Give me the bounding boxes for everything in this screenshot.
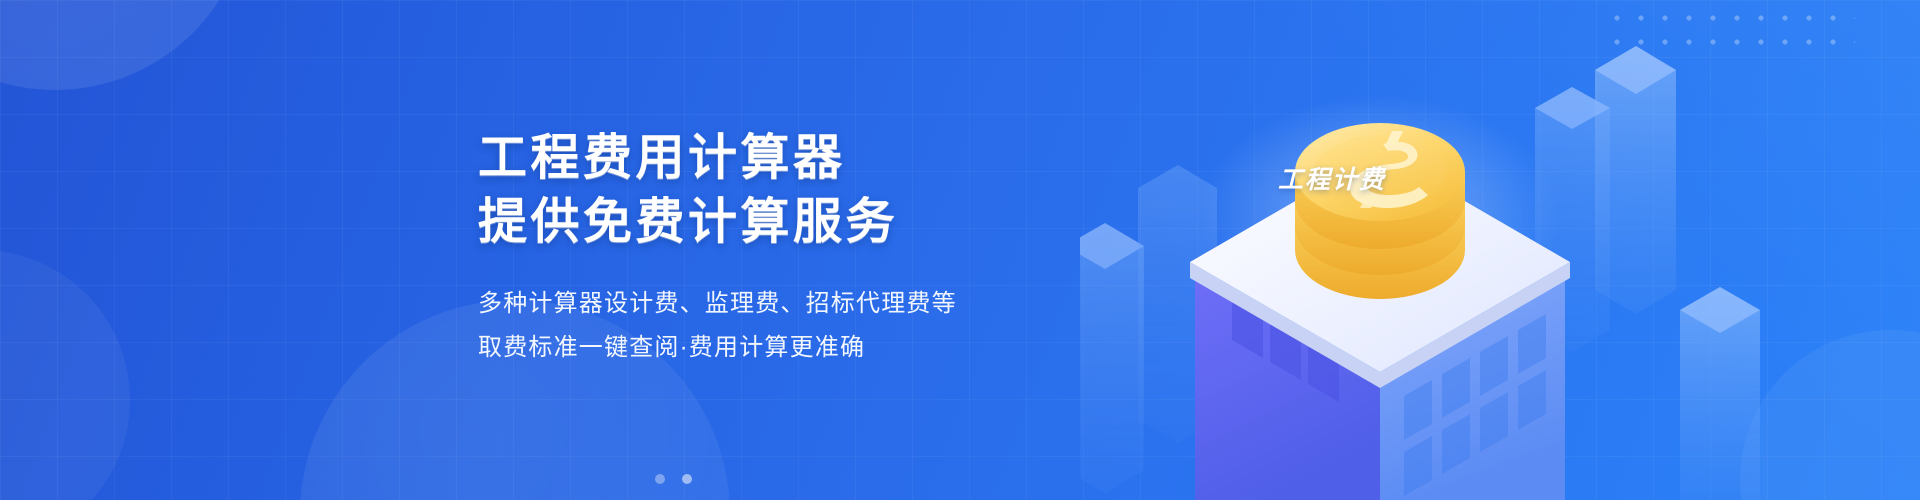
decorative-circle-left-middle [0, 250, 130, 500]
banner-title-line-1: 工程费用计算器 [478, 126, 1138, 190]
decorative-circle-top-left [0, 0, 250, 90]
carousel-indicator[interactable] [655, 474, 692, 484]
hero-illustration: 工程计费 [1080, 0, 1920, 500]
carousel-dot-1[interactable] [655, 474, 665, 484]
isometric-building-illustration [1080, 0, 1920, 500]
banner-title-line-2: 提供免费计算服务 [478, 190, 1138, 254]
banner-subtitle-group: 多种计算器设计费、监理费、招标代理费等 取费标准一键查阅·费用计算更准确 [478, 282, 1138, 370]
banner-subtitle-line-1: 多种计算器设计费、监理费、招标代理费等 [478, 282, 1138, 326]
gold-coin-stack [1295, 123, 1465, 299]
illustration-badge-label: 工程计费 [1278, 160, 1386, 196]
hero-banner: 工程计费 工程费用计算器 提供免费计算服务 多种计算器设计费、监理费、招标代理费… [0, 0, 1920, 500]
banner-text-content: 工程费用计算器 提供免费计算服务 多种计算器设计费、监理费、招标代理费等 取费标… [478, 126, 1138, 370]
carousel-dot-2[interactable] [682, 474, 692, 484]
banner-subtitle-line-2: 取费标准一键查阅·费用计算更准确 [478, 326, 1138, 370]
